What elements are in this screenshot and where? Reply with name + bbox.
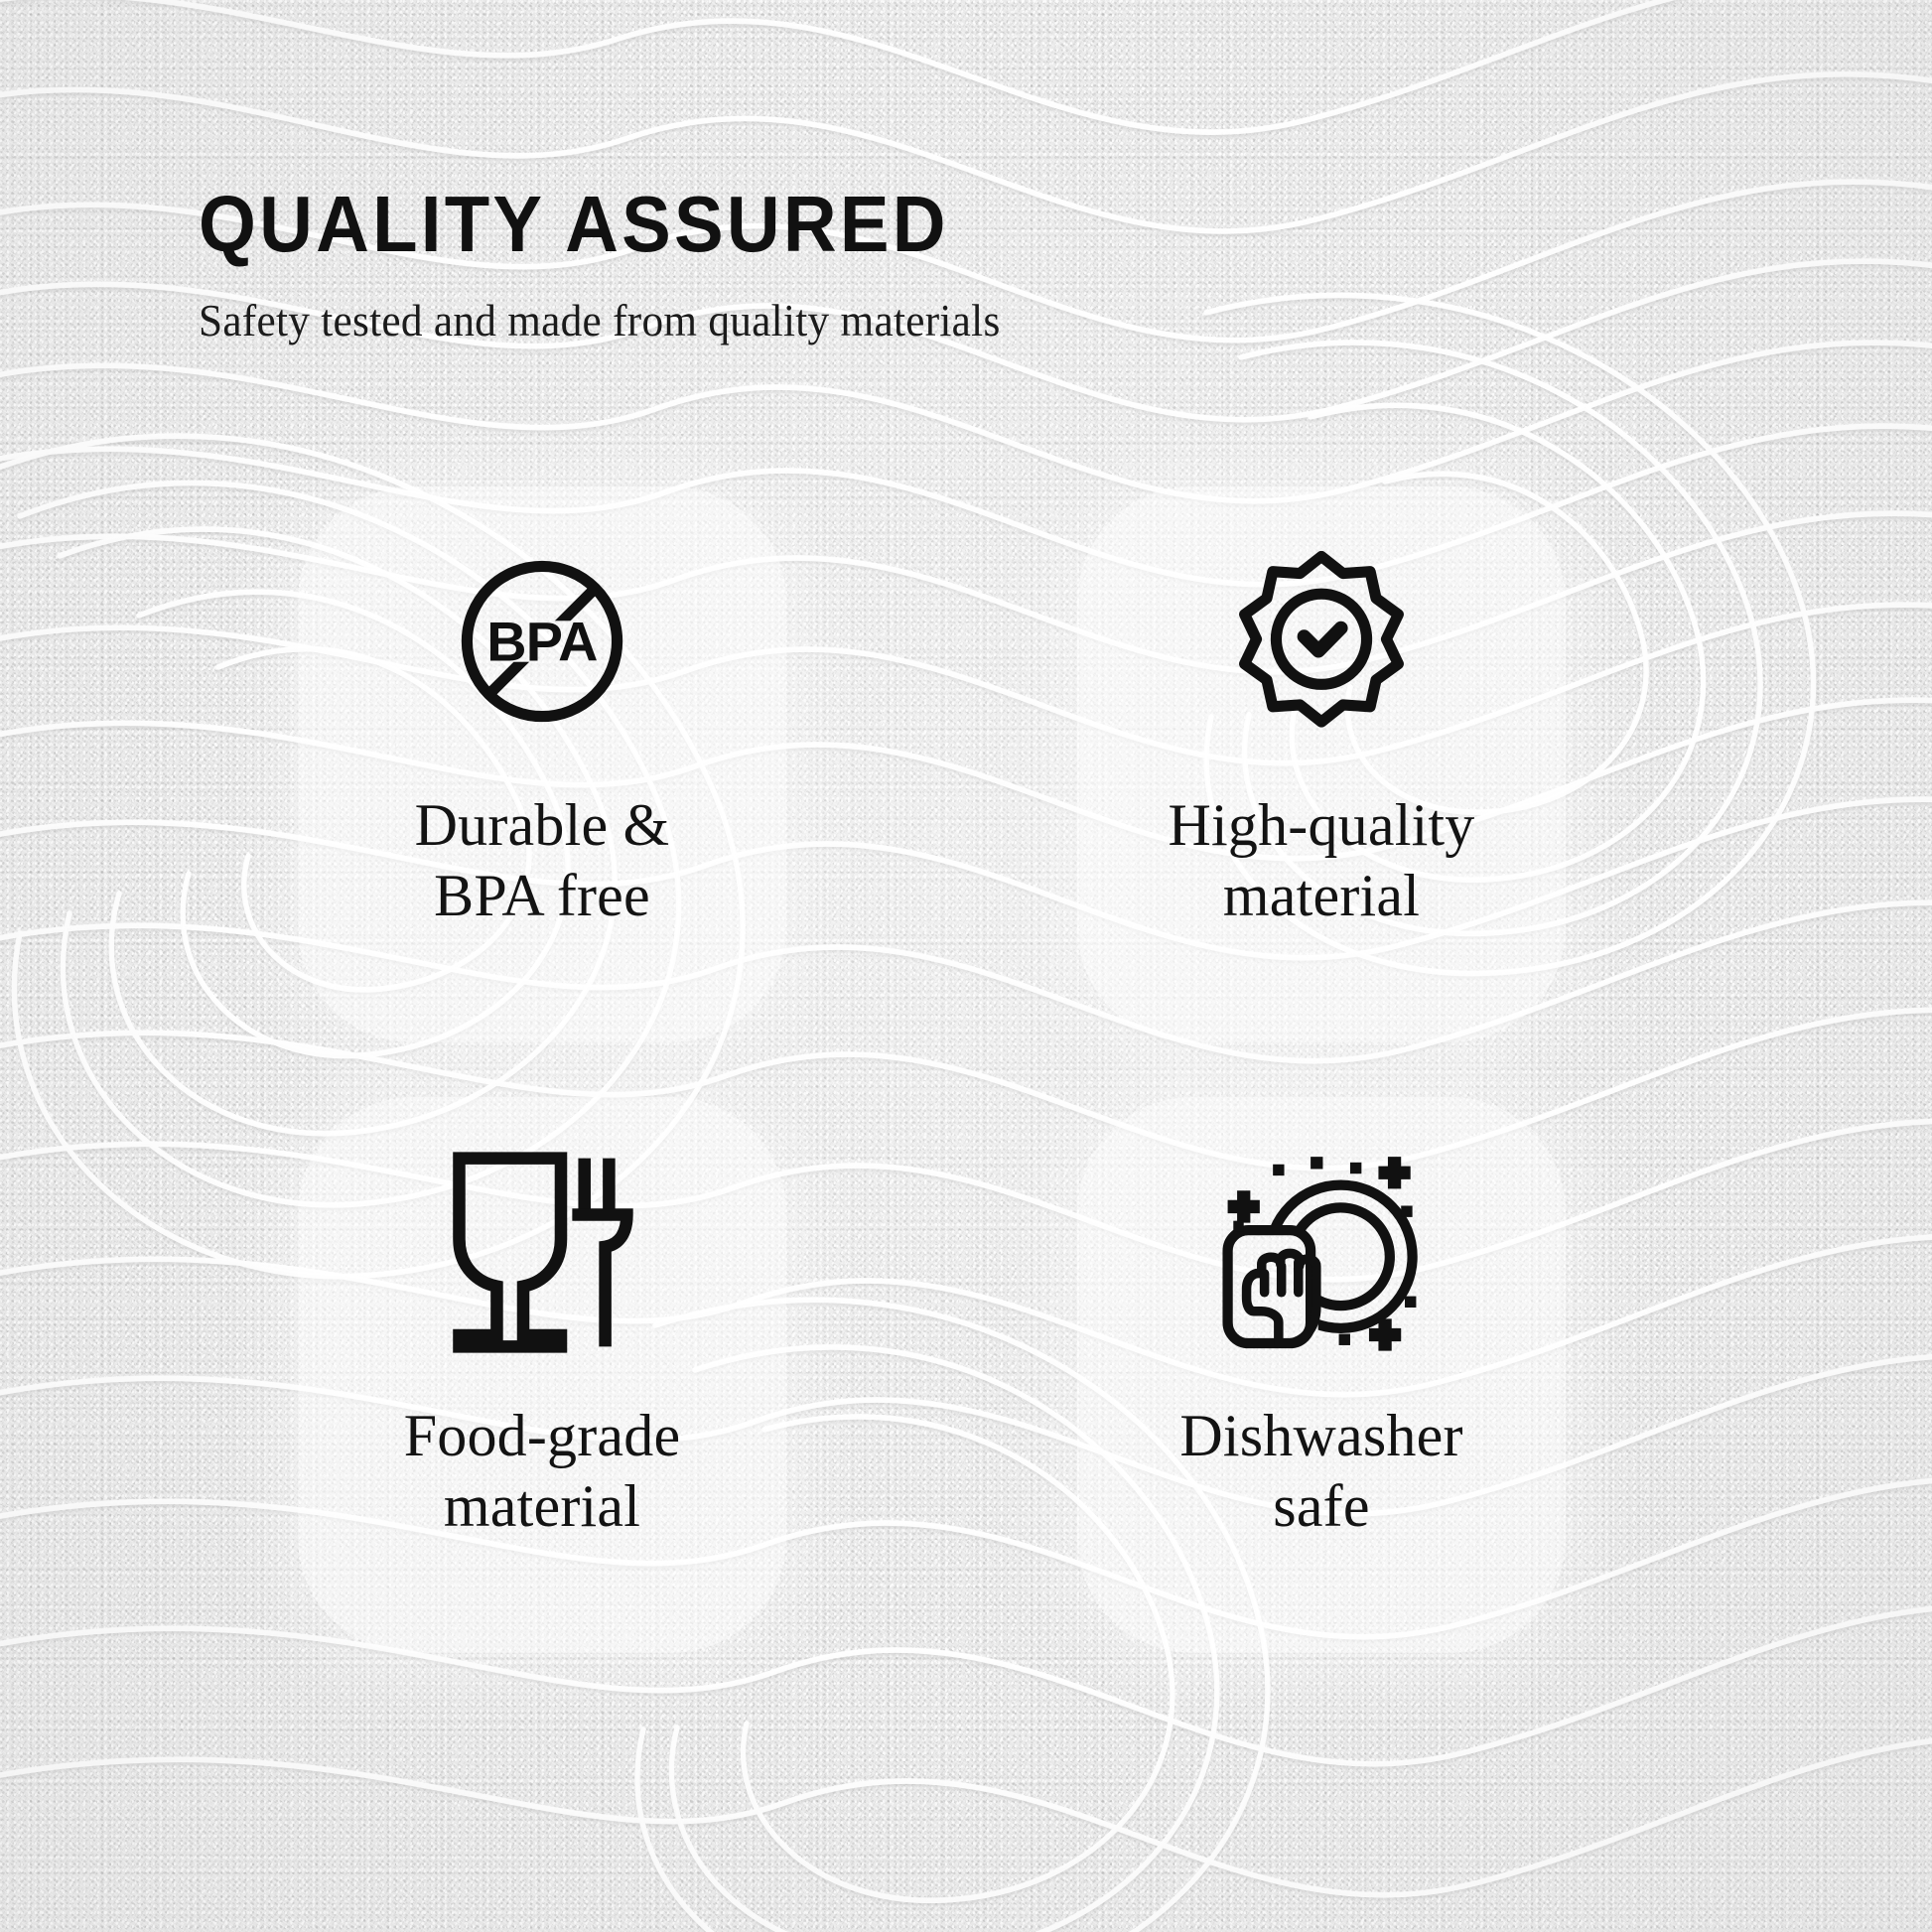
feature-card-dishwasher-safe[interactable]: Dishwasher safe [1077, 1097, 1566, 1653]
label-line-1: High-quality [1093, 790, 1550, 861]
bpa-free-icon: BPA [298, 492, 786, 790]
feature-card-high-quality[interactable]: High-quality material [1077, 486, 1566, 1042]
feature-card-label: Durable & BPA free [298, 790, 786, 931]
quality-badge-check-icon [1077, 492, 1566, 790]
label-line-2: material [314, 1471, 770, 1542]
feature-card-bpa-free[interactable]: BPA Durable & BPA free [298, 486, 786, 1042]
label-line-2: BPA free [314, 861, 770, 931]
dishwasher-safe-hand-plate-icon [1077, 1103, 1566, 1401]
label-line-1: Durable & [314, 790, 770, 861]
feature-card-label: Dishwasher safe [1077, 1401, 1566, 1542]
bpa-icon-text: BPA [486, 611, 598, 673]
food-safe-glass-fork-icon [298, 1103, 786, 1401]
feature-card-label: Food-grade material [298, 1401, 786, 1542]
label-line-1: Food-grade [314, 1401, 770, 1471]
label-line-1: Dishwasher [1093, 1401, 1550, 1471]
infographic-canvas: QUALITY ASSURED Safety tested and made f… [0, 0, 1932, 1932]
label-line-2: safe [1093, 1471, 1550, 1542]
label-line-2: material [1093, 861, 1550, 931]
feature-card-food-grade[interactable]: Food-grade material [298, 1097, 786, 1653]
feature-card-grid: BPA Durable & BPA free High-quality mat [0, 0, 1932, 1932]
feature-card-label: High-quality material [1077, 790, 1566, 931]
